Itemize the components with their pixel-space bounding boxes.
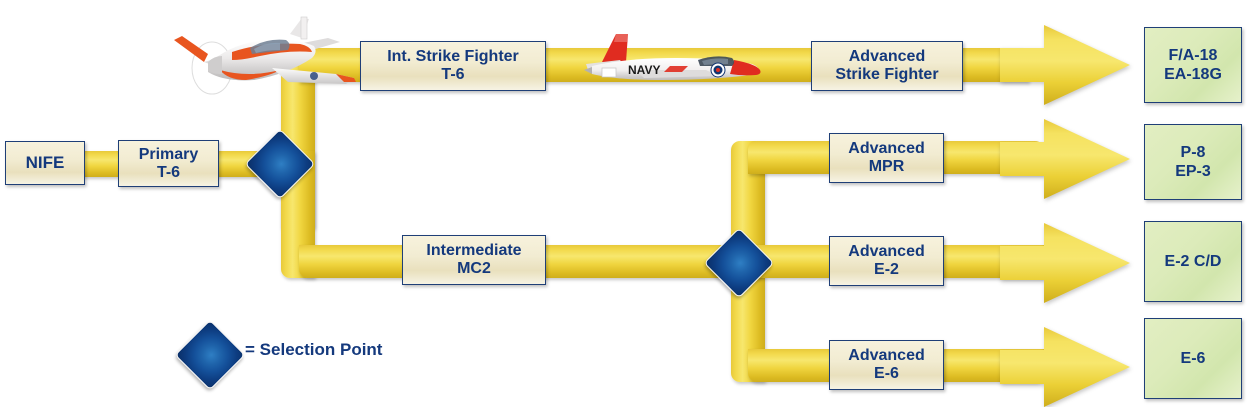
endpoint-p8-ep3[interactable]: P-8 EP-3 bbox=[1144, 124, 1242, 200]
flow-arrowhead-mpr bbox=[1000, 117, 1132, 201]
node-int-strike-fighter[interactable]: Int. Strike Fighter T-6 bbox=[360, 41, 546, 91]
node-nife[interactable]: NIFE bbox=[5, 141, 85, 185]
node-int-strike-fighter-line2: T-6 bbox=[441, 66, 464, 83]
node-advanced-e2[interactable]: Advanced E-2 bbox=[829, 236, 944, 286]
node-primary-t6-label: Primary T-6 bbox=[133, 146, 205, 182]
node-advanced-strike-fighter[interactable]: Advanced Strike Fighter bbox=[811, 41, 963, 91]
node-advanced-strike-fighter-line1: Advanced bbox=[849, 48, 925, 65]
node-advanced-e2-line2: E-2 bbox=[874, 261, 899, 278]
endpoint-fa18-line1: F/A-18 bbox=[1169, 47, 1218, 64]
node-advanced-strike-fighter-line2: Strike Fighter bbox=[835, 66, 938, 83]
flow-arrowhead-top bbox=[1000, 23, 1132, 107]
node-intermediate-mc2-line1: Intermediate bbox=[426, 242, 521, 259]
endpoint-e6-label: E-6 bbox=[1181, 349, 1206, 368]
endpoint-fa18-line2: EA-18G bbox=[1164, 66, 1222, 83]
node-advanced-e6-label: Advanced E-6 bbox=[842, 347, 930, 383]
pipeline-diagram: NAVY NIFE Primary T-6 Int. Strike Fighte… bbox=[0, 0, 1255, 407]
node-intermediate-mc2[interactable]: Intermediate MC2 bbox=[402, 235, 546, 285]
node-advanced-strike-fighter-label: Advanced Strike Fighter bbox=[829, 48, 944, 84]
legend-selection-point-icon bbox=[175, 320, 246, 391]
node-advanced-mpr-line1: Advanced bbox=[848, 140, 924, 157]
node-advanced-e2-label: Advanced E-2 bbox=[842, 243, 930, 279]
svg-text:NAVY: NAVY bbox=[628, 63, 660, 77]
legend-label: = Selection Point bbox=[245, 340, 382, 360]
aircraft-t6-texan-image bbox=[168, 12, 358, 98]
endpoint-fa18-ea18g[interactable]: F/A-18 EA-18G bbox=[1144, 27, 1242, 103]
endpoint-e2-cd-label: E-2 C/D bbox=[1165, 252, 1222, 271]
flow-arrowhead-e6 bbox=[1000, 325, 1132, 407]
node-primary-t6-line1: Primary bbox=[139, 146, 199, 163]
endpoint-fa18-ea18g-label: F/A-18 EA-18G bbox=[1164, 46, 1222, 84]
node-intermediate-mc2-line2: MC2 bbox=[457, 260, 491, 277]
node-advanced-mpr-line2: MPR bbox=[869, 158, 905, 175]
node-intermediate-mc2-label: Intermediate MC2 bbox=[420, 242, 527, 278]
endpoint-p8-line1: P-8 bbox=[1181, 144, 1206, 161]
endpoint-e6[interactable]: E-6 bbox=[1144, 318, 1242, 399]
node-advanced-e6-line1: Advanced bbox=[848, 347, 924, 364]
aircraft-t45-goshawk-image: NAVY bbox=[566, 30, 790, 92]
node-advanced-e6[interactable]: Advanced E-6 bbox=[829, 340, 944, 390]
node-advanced-e2-line1: Advanced bbox=[848, 243, 924, 260]
node-advanced-mpr-label: Advanced MPR bbox=[842, 140, 930, 176]
node-advanced-e6-line2: E-6 bbox=[874, 365, 899, 382]
endpoint-p8-ep3-label: P-8 EP-3 bbox=[1175, 143, 1211, 181]
node-advanced-mpr[interactable]: Advanced MPR bbox=[829, 133, 944, 183]
endpoint-e2-cd[interactable]: E-2 C/D bbox=[1144, 221, 1242, 302]
node-primary-t6-line2: T-6 bbox=[157, 164, 180, 181]
legend-selection-point-text: Selection Point bbox=[260, 340, 383, 359]
node-int-strike-fighter-line1: Int. Strike Fighter bbox=[387, 48, 519, 65]
legend-equals-sign: = bbox=[245, 340, 255, 359]
node-nife-label: NIFE bbox=[20, 153, 71, 172]
node-int-strike-fighter-label: Int. Strike Fighter T-6 bbox=[381, 48, 525, 84]
flow-arrowhead-e2 bbox=[1000, 221, 1132, 305]
endpoint-p8-line2: EP-3 bbox=[1175, 163, 1211, 180]
node-primary-t6[interactable]: Primary T-6 bbox=[118, 140, 219, 187]
